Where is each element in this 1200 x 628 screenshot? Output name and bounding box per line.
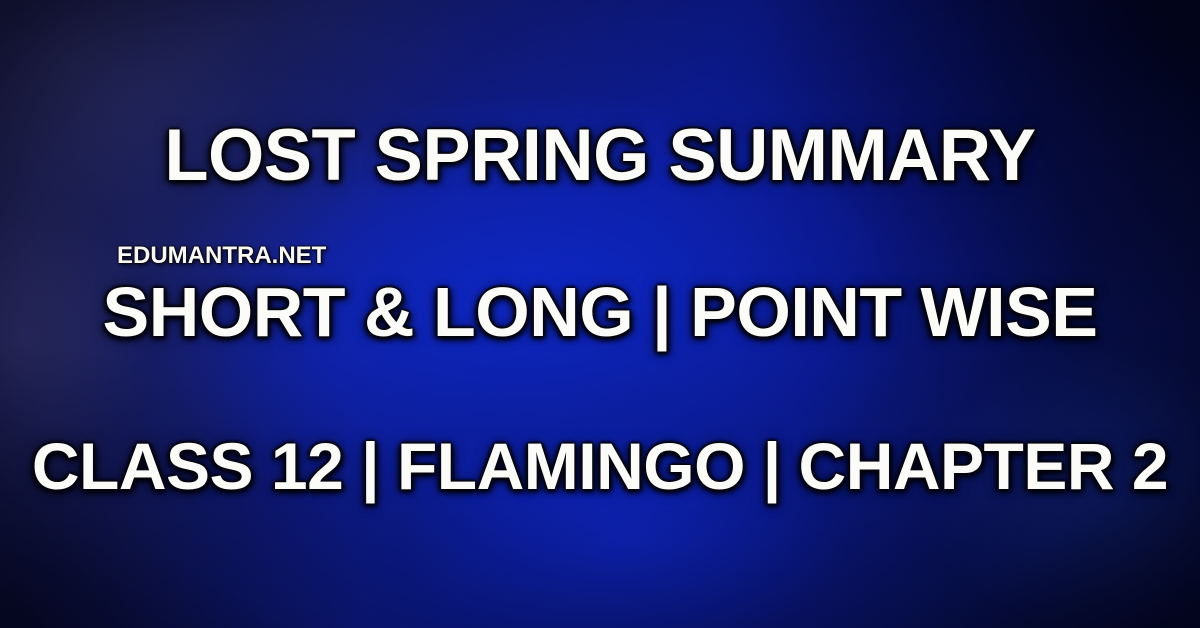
poster-content: LOST SPRING SUMMARY EDUMANTRA.NET SHORT … — [0, 0, 1200, 628]
headline-line-tertiary: CLASS 12 | FLAMINGO | CHAPTER 2 — [0, 428, 1200, 504]
site-watermark: EDUMANTRA.NET — [117, 243, 326, 269]
headline-line-primary: LOST SPRING SUMMARY — [6, 114, 1194, 198]
headline-line-secondary: SHORT & LONG | POINT WISE — [0, 272, 1200, 352]
poster-thumbnail: LOST SPRING SUMMARY EDUMANTRA.NET SHORT … — [0, 0, 1200, 628]
